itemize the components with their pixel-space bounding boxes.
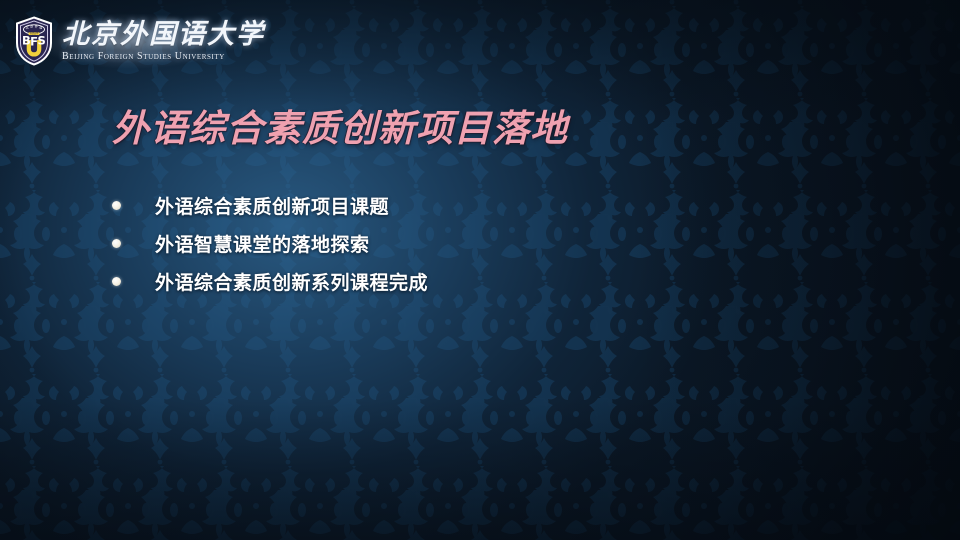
list-item-label: 外语智慧课堂的落地探索 <box>155 230 370 257</box>
university-shield-icon: 北 京 外 语 外语大学 B F S <box>14 16 54 66</box>
logo-name-chinese: 北京外国语大学 <box>62 21 265 48</box>
bullet-dot-icon <box>112 277 121 286</box>
logo-wordmark: 北京外国语大学 Beijing Foreign Studies Universi… <box>62 21 265 62</box>
bullet-list: 外语综合素质创新项目课题 外语智慧课堂的落地探索 外语综合素质创新系列课程完成 <box>112 186 732 300</box>
slide-title: 外语综合素质创新项目落地 <box>112 98 568 152</box>
svg-text:外: 外 <box>35 23 38 28</box>
list-item: 外语综合素质创新系列课程完成 <box>112 262 732 300</box>
bullet-dot-icon <box>112 239 121 248</box>
bullet-dot-icon <box>112 201 121 210</box>
svg-text:S: S <box>37 34 45 48</box>
svg-text:京: 京 <box>30 23 33 28</box>
university-logo: 北 京 外 语 外语大学 B F S <box>14 8 240 74</box>
logo-name-english: Beijing Foreign Studies University <box>62 52 265 62</box>
presentation-slide: 北 京 外 语 外语大学 B F S <box>0 0 960 540</box>
list-item: 外语综合素质创新项目课题 <box>112 186 732 224</box>
svg-text:语: 语 <box>39 25 42 30</box>
list-item-label: 外语综合素质创新系列课程完成 <box>155 268 428 295</box>
list-item-label: 外语综合素质创新项目课题 <box>155 192 389 219</box>
list-item: 外语智慧课堂的落地探索 <box>112 224 732 262</box>
